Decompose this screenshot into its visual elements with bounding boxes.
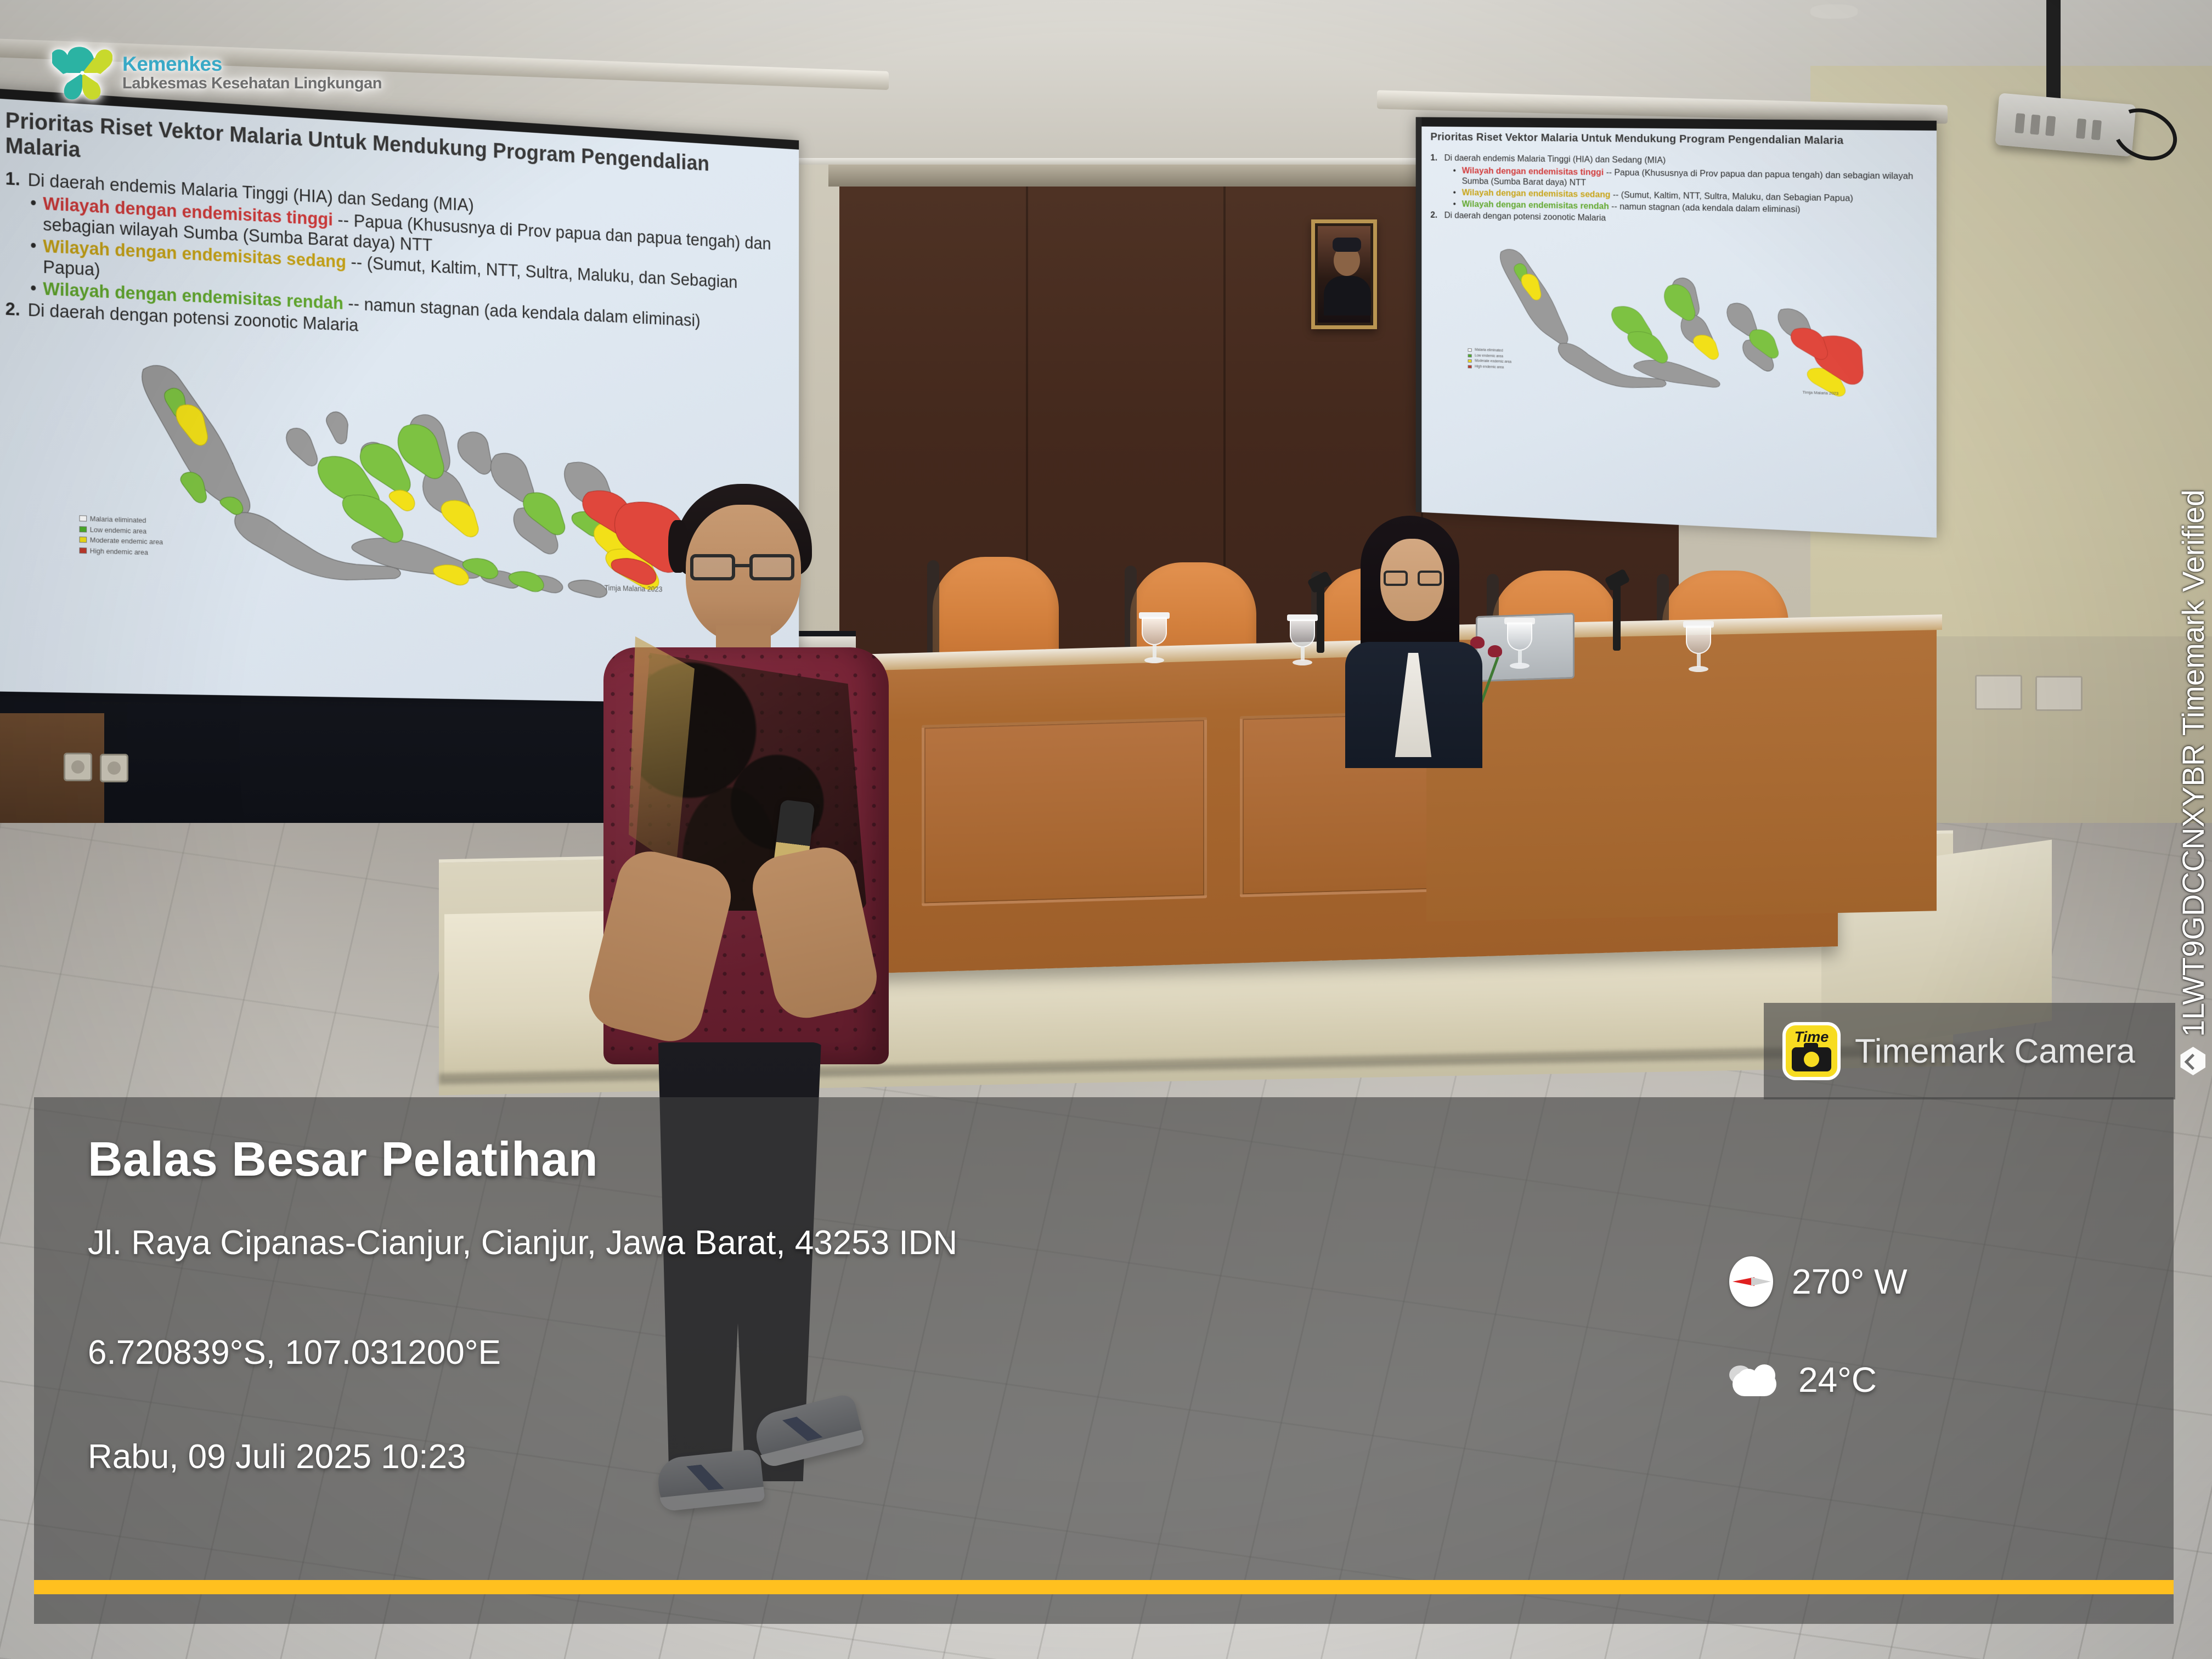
address-line: Jl. Raya Cipanas-Cianjur, Cianjur, Jawa … bbox=[88, 1223, 957, 1262]
projection-screen-right: Prioritas Riset Vektor Malaria Untuk Men… bbox=[1416, 117, 1937, 538]
bearing-metric: 270° W bbox=[1729, 1256, 2080, 1307]
legend-swatch-low bbox=[1468, 354, 1472, 357]
table-panel bbox=[922, 717, 1207, 906]
compass-icon bbox=[1729, 1256, 1773, 1307]
map-legend: Malaria eliminated Low endemic area Mode… bbox=[1468, 347, 1512, 371]
indonesia-map-svg bbox=[1468, 228, 1880, 405]
legend-swatch-eliminated bbox=[79, 516, 87, 522]
timemark-info-panel: Balas Besar Pelatihan Jl. Raya Cipanas-C… bbox=[34, 1097, 2174, 1624]
timemark-photo: Prioritas Riset Vektor Malaria Untuk Men… bbox=[0, 0, 2212, 1659]
slide-subitem-low-rest: -- namun stagnan (ada kendala dalam elim… bbox=[1611, 201, 1800, 215]
timemark-accent-bar bbox=[34, 1580, 2174, 1594]
wall-switch-plate bbox=[1975, 675, 2022, 710]
framed-portrait bbox=[1311, 219, 1377, 329]
eyeglasses-icon bbox=[690, 554, 798, 580]
coordinates-line: 6.720839°S, 107.031200°E bbox=[88, 1333, 501, 1372]
timemark-app-icon: Time bbox=[1782, 1022, 1841, 1080]
legend-label: High endemic area bbox=[90, 545, 148, 557]
power-outlet bbox=[64, 753, 92, 781]
highlight-low-endemic: Wilayah dengan endemisitas rendah bbox=[1462, 199, 1609, 212]
legend-swatch-high bbox=[1468, 365, 1472, 368]
bullet-dot-icon: • bbox=[30, 193, 36, 234]
covered-glass bbox=[1504, 613, 1535, 670]
slide-item-number: 2. bbox=[1430, 210, 1437, 221]
covered-glass bbox=[1287, 610, 1318, 667]
timemark-verified-strip: 1LWT9GDCCNXYBR Timemark Verified bbox=[2175, 307, 2211, 1075]
microphone-stand bbox=[1613, 579, 1621, 651]
slide-item-text: Di daerah dengan potensi zoonotic Malari… bbox=[1444, 210, 1606, 223]
bullet-dot-icon: • bbox=[1453, 199, 1456, 209]
highlight-moderate-endemic: Wilayah dengan endemisitas sedang bbox=[1462, 188, 1611, 200]
covered-glass bbox=[1683, 617, 1714, 674]
bearing-value: 270° W bbox=[1792, 1261, 1908, 1302]
kemenkes-clover-icon bbox=[52, 43, 112, 103]
camera-icon bbox=[1792, 1047, 1831, 1071]
bullet-dot-icon: • bbox=[30, 235, 36, 277]
slide-item-text: Di daerah endemis Malaria Tinggi (HIA) d… bbox=[1444, 153, 1666, 166]
eyeglasses-icon bbox=[1384, 571, 1442, 586]
legend-label: High endemic area bbox=[1475, 364, 1504, 371]
timemark-app-name: Timemark Camera bbox=[1855, 1032, 2135, 1071]
timemark-metrics: 270° W 24°C bbox=[1729, 1256, 2080, 1453]
bullet-dot-icon: • bbox=[30, 278, 36, 298]
indonesia-map: Malaria eliminated Low endemic area Mode… bbox=[1430, 228, 1920, 407]
legend-swatch-high bbox=[79, 548, 87, 554]
slide-right: Prioritas Riset Vektor Malaria Untuk Men… bbox=[1416, 117, 1937, 538]
slide-item-number: 2. bbox=[5, 298, 20, 320]
kemenkes-logo-text: Kemenkes Labkesmas Kesehatan Lingkungan bbox=[122, 54, 382, 92]
venue-name: Balas Besar Pelatihan bbox=[88, 1131, 598, 1187]
slide-item-number: 1. bbox=[5, 168, 20, 189]
temperature-value: 24°C bbox=[1798, 1359, 1877, 1400]
bullet-dot-icon: • bbox=[1453, 165, 1456, 186]
power-outlet bbox=[100, 754, 128, 782]
wall-switch-plate bbox=[2035, 676, 2083, 711]
temperature-metric: 24°C bbox=[1729, 1359, 2080, 1400]
datetime-line: Rabu, 09 Juli 2025 10:23 bbox=[88, 1437, 466, 1476]
slide-sub-list: • Wilayah dengan endemisitas tinggi -- P… bbox=[1453, 165, 1921, 217]
kemenkes-name: Kemenkes bbox=[122, 54, 382, 75]
legend-swatch-moderate bbox=[79, 537, 87, 543]
timemark-verified-code: 1LWT9GDCCNXYBR Timemark Verified bbox=[2175, 489, 2211, 1037]
kemenkes-logo: Kemenkes Labkesmas Kesehatan Lingkungan bbox=[52, 43, 382, 103]
smoke-detector bbox=[1810, 4, 1858, 19]
shield-verified-icon bbox=[2181, 1047, 2206, 1075]
slide-title: Prioritas Riset Vektor Malaria Untuk Men… bbox=[1430, 131, 1920, 148]
microphone-stand bbox=[1317, 582, 1324, 653]
projector-mount-rod bbox=[2046, 0, 2061, 104]
cloud-weather-icon bbox=[1729, 1363, 1780, 1396]
timemark-app-badge: Time Timemark Camera bbox=[1764, 1003, 2175, 1099]
kemenkes-subname: Labkesmas Kesehatan Lingkungan bbox=[122, 75, 382, 92]
legend-swatch-low bbox=[79, 526, 87, 532]
seated-person bbox=[1333, 516, 1498, 752]
map-legend: Malaria eliminated Low endemic area Mode… bbox=[79, 513, 163, 558]
legend-swatch-eliminated bbox=[1468, 348, 1472, 352]
bullet-dot-icon: • bbox=[1453, 187, 1456, 198]
slide-item-number: 1. bbox=[1430, 153, 1437, 163]
highlight-high-endemic: Wilayah dengan endemisitas tinggi bbox=[1462, 166, 1604, 177]
legend-swatch-moderate bbox=[1468, 359, 1472, 363]
covered-glass bbox=[1139, 608, 1170, 665]
